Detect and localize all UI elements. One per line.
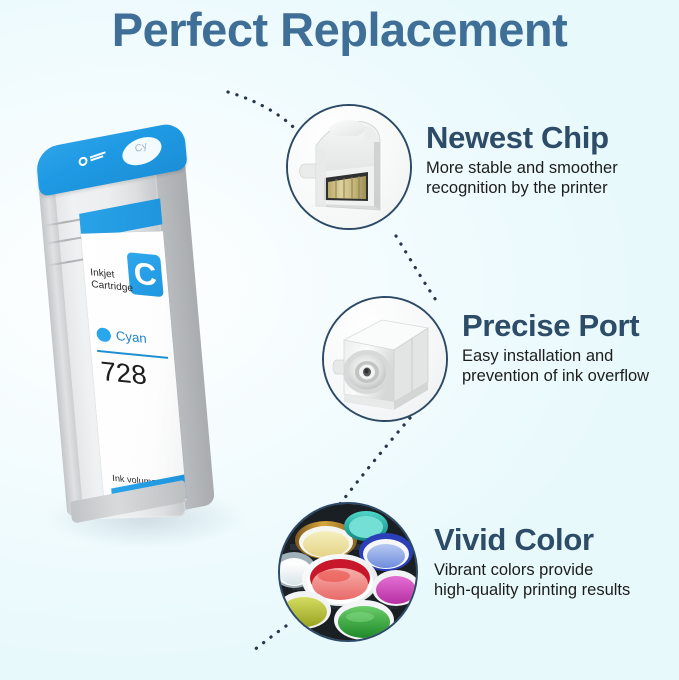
feature-newest-chip: Newest Chip More stable and smoother rec… [286,104,666,232]
cap-color-code: Cy [121,135,162,160]
cartridge-body-group: Cy C Inkjet Cartridge Cyan 728 Ink volum… [34,148,235,524]
infographic-page: Perfect Replacement Cy [0,0,679,680]
feature-desc-line1: Easy installation and [462,346,649,366]
paint-cans-illustration [280,504,416,640]
ink-cartridge-image: Cy C Inkjet Cartridge Cyan 728 Ink volum… [28,138,278,558]
feature-precise-port-text: Precise Port Easy installation and preve… [462,310,649,386]
feature-desc-line2: recognition by the printer [426,178,618,198]
port-icon [322,296,448,422]
chip-icon [286,104,412,230]
feature-title: Precise Port [462,310,649,343]
feature-desc-line2: prevention of ink overflow [462,366,649,386]
brand-logo-icon [78,149,109,169]
feature-desc-line1: More stable and smoother [426,158,618,178]
product-type-line2: Cartridge [91,279,134,294]
port-illustration [324,298,446,420]
feature-vivid-color: Vivid Color Vibrant colors provide high-… [278,502,673,640]
chip-illustration [288,106,410,228]
feature-vivid-color-text: Vivid Color Vibrant colors provide high-… [434,524,630,600]
feature-title: Vivid Color [434,524,630,557]
cap-color-oval: Cy [120,132,164,170]
feature-desc-line1: Vibrant colors provide [434,560,630,580]
feature-newest-chip-text: Newest Chip More stable and smoother rec… [426,122,618,198]
feature-desc-line2: high-quality printing results [434,580,630,600]
page-title: Perfect Replacement [0,2,679,57]
model-number: 728 [100,356,148,391]
feature-precise-port: Precise Port Easy installation and preve… [322,296,679,424]
color-name-label: Cyan [115,328,147,346]
paint-can-green [334,600,394,640]
color-swatch-dot [96,327,111,342]
paint-cans-icon [278,502,418,642]
feature-title: Newest Chip [426,122,618,155]
